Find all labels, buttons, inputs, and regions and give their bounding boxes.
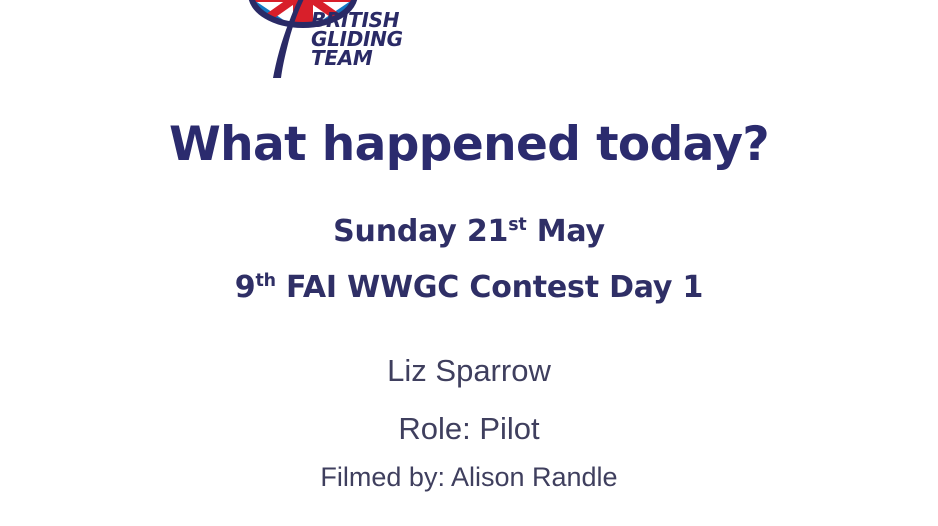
event-ordinal: th <box>255 271 275 291</box>
event-number: 9 <box>235 270 256 305</box>
slide-date-line: Sunday 21st May <box>0 214 938 249</box>
title-slide: BRITISH GLIDING TEAM What happened today… <box>0 0 938 526</box>
logo-wordmark-line-3: TEAM <box>311 49 431 68</box>
presenter-name: Liz Sparrow <box>0 353 938 389</box>
filmed-by-credit: Filmed by: Alison Randle <box>0 462 938 493</box>
date-day: Sunday 21 <box>333 214 508 249</box>
event-name: FAI WWGC Contest Day 1 <box>286 270 703 305</box>
date-ordinal: st <box>508 215 526 235</box>
logo-wordmark: BRITISH GLIDING TEAM <box>311 11 431 67</box>
date-month: May <box>537 214 605 249</box>
british-gliding-team-logo: BRITISH GLIDING TEAM <box>243 0 433 78</box>
slide-title: What happened today? <box>0 117 938 172</box>
slide-event-line: 9th FAI WWGC Contest Day 1 <box>0 270 938 305</box>
presenter-role: Role: Pilot <box>0 411 938 447</box>
